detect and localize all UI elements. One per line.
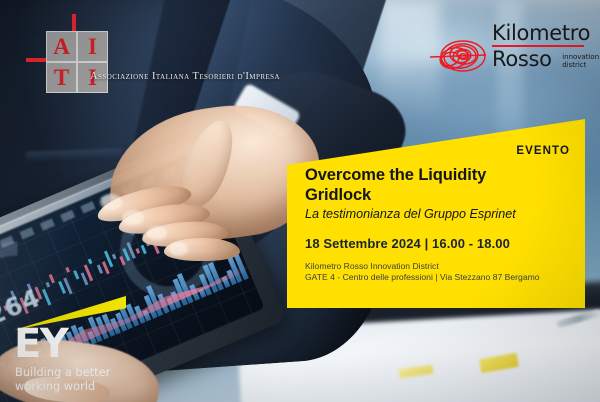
km-tagline: innovation district [562, 53, 599, 70]
fingernail [169, 242, 188, 256]
ey-wordmark: EY [14, 324, 67, 364]
aiti-cell-t: T [46, 62, 77, 93]
ey-logo: EY Building a better working world [10, 296, 180, 394]
kilometro-rosso-logo: Kilometro Rosso innovation district [430, 22, 590, 84]
event-date-time: 18 Settembre 2024 | 16.00 - 18.00 [305, 236, 510, 251]
ey-tagline: Building a better working world [15, 366, 110, 393]
event-title: Overcome the Liquidity Gridlock [305, 166, 555, 205]
red-spiral-swirl-icon [430, 34, 492, 78]
aiti-cell-i1: I [77, 31, 108, 62]
km-line-kilometro: Kilometro [492, 22, 599, 44]
fingernail [100, 194, 122, 210]
fingernail [122, 210, 144, 225]
km-line-rosso: Rosso [492, 48, 552, 70]
fingernail [147, 226, 167, 240]
km-tagline-line1: innovation [562, 53, 599, 61]
km-tagline-line2: district [562, 61, 599, 69]
aiti-logo: A I T I Associazione Italiana Tesorieri … [24, 14, 324, 84]
ey-tagline-line2: working world [15, 380, 110, 394]
aiti-letter-grid: A I T I [46, 31, 108, 93]
event-subtitle: La testimonianza del Gruppo Esprinet [305, 207, 567, 222]
event-venue: Kilometro Rosso Innovation District GATE… [305, 261, 575, 284]
ey-tagline-line1: Building a better [15, 366, 110, 380]
event-kicker-label: EVENTO [516, 145, 570, 157]
kilometro-rosso-wordmark: Kilometro Rosso innovation district [492, 22, 599, 71]
event-banner: 264 A I T I Associazione Italiana Tesori… [0, 0, 600, 402]
event-venue-line1: Kilometro Rosso Innovation District [305, 261, 575, 272]
aiti-subtitle: Associazione Italiana Tesorieri d'Impres… [90, 71, 280, 82]
event-venue-line2: GATE 4 - Centro delle professioni | Via … [305, 272, 575, 283]
aiti-cell-a: A [46, 31, 77, 62]
